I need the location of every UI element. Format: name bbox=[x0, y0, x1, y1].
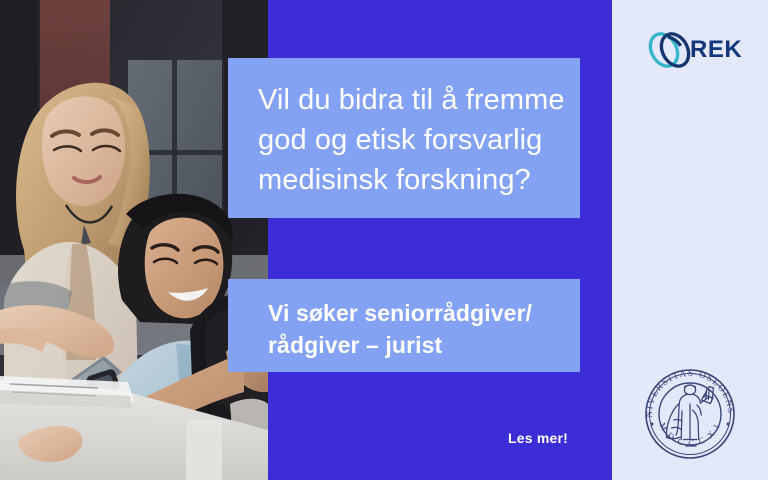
apollo-with-lyre-icon: UNIVERSITAS OSLOENSIS M D C C C X I bbox=[638, 362, 742, 466]
rek-wordmark: REK bbox=[690, 36, 742, 64]
role-line-2: rådgiver – jurist bbox=[268, 329, 560, 361]
role-callout: Vi søker seniorrådgiver/ rådgiver – juri… bbox=[228, 279, 580, 372]
rek-logo[interactable]: REK bbox=[648, 27, 738, 73]
svg-text:UNIVERSITAS OSLOENSIS: UNIVERSITAS OSLOENSIS bbox=[638, 362, 736, 418]
role-line-1: Vi søker seniorrådgiver/ bbox=[268, 297, 560, 329]
headline-line-2: god og etisk forsvarlig bbox=[258, 120, 554, 160]
headline-line-3: medisinsk forskning? bbox=[258, 160, 554, 200]
headline-callout: Vil du bidra til å fremme god og etisk f… bbox=[228, 58, 580, 218]
uio-seal: UNIVERSITAS OSLOENSIS M D C C C X I bbox=[638, 362, 742, 466]
headline-line-1: Vil du bidra til å fremme bbox=[258, 80, 554, 120]
seal-top-text: UNIVERSITAS OSLOENSIS bbox=[638, 362, 736, 418]
two-interlocking-rings-icon bbox=[648, 27, 692, 73]
recruitment-banner: Vil du bidra til å fremme god og etisk f… bbox=[0, 0, 768, 480]
les-mer-link[interactable]: Les mer! bbox=[380, 430, 568, 446]
